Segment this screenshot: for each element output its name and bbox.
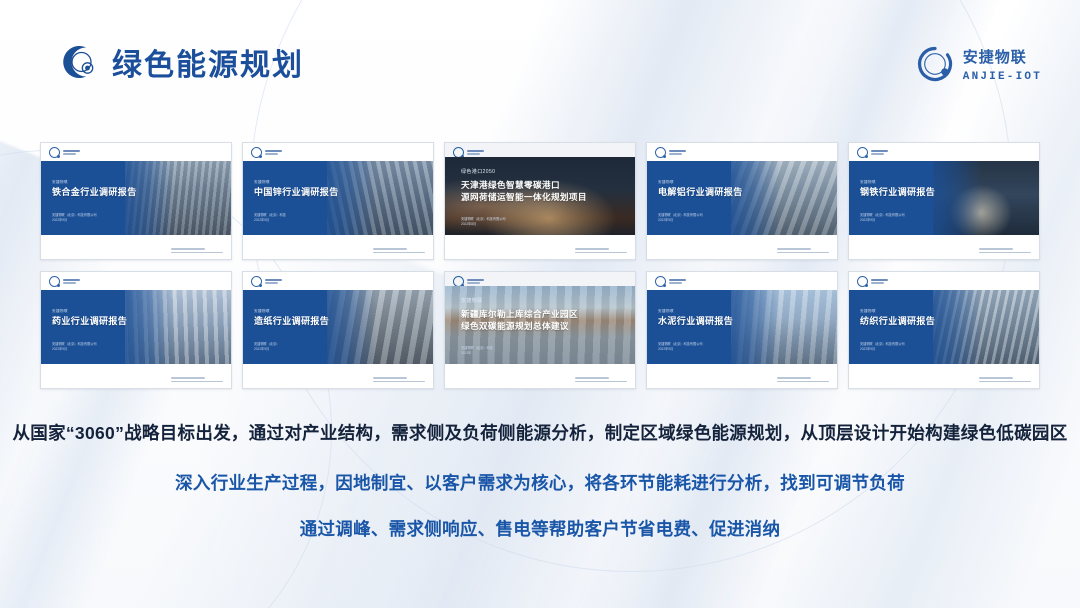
- card-slide-header: [445, 143, 635, 158]
- card-cover-band: 绿色港口2050天津港绿色智慧零碳港口源网荷储运智能一体化规划项目安捷物联（北京…: [445, 157, 635, 239]
- card-subtitle: 安捷物联（北京）科技有限公司2022年9月: [52, 213, 97, 223]
- card-footer-text: [979, 377, 1031, 384]
- card-title: 新疆库尔勒上库综合产业园区绿色双碳能源规划总体建议: [461, 308, 578, 333]
- card-slide-header: [243, 272, 433, 290]
- company-name-cn: 安捷物联: [963, 49, 1027, 66]
- card-cover-band: 安捷物联电解铝行业调研报告安捷物联（北京）科技有限公司2022年9月: [647, 161, 837, 235]
- card-subtitle: 安捷物联（北京）科技2022年9月: [254, 213, 286, 223]
- card-subtitle-line-2: 2022年: [461, 351, 493, 356]
- card-subtitle-line-2: 2022年9月: [52, 218, 97, 223]
- copy-line-2: 深入行业生产过程，因地制宜、以客户需求为核心，将各环节能耗进行分析，找到可调节负…: [0, 470, 1080, 495]
- card-footer-text: [171, 377, 223, 384]
- card-title: 纺织行业调研报告: [860, 317, 935, 327]
- card-title: 电解铝行业调研报告: [658, 188, 743, 198]
- card-footer-text: [575, 248, 627, 255]
- report-thumbnail-grid: 安捷物联铁合金行业调研报告安捷物联（北京）科技有限公司2022年9月安捷物联中国…: [40, 142, 1040, 389]
- card-slide-header: [849, 143, 1039, 161]
- card-logo-icon: [49, 276, 80, 287]
- report-card[interactable]: 安捷物联纺织行业调研报告安捷物联（北京）科技有限公司2022年9月: [848, 271, 1040, 389]
- card-footer: [41, 235, 231, 259]
- card-footer: [849, 364, 1039, 388]
- card-subtitle-line-2: 2022年9月: [254, 347, 280, 352]
- card-subtitle-line-2: 2022年9月: [52, 347, 97, 352]
- card-title: 造纸行业调研报告: [254, 317, 329, 327]
- card-title-group: 安捷物联药业行业调研报告: [52, 310, 127, 326]
- card-subtitle: 安捷物联（北京）科技有限公司2022年9月: [860, 213, 905, 223]
- card-title-group: 安捷物联纺织行业调研报告: [860, 310, 935, 326]
- card-title: 药业行业调研报告: [52, 317, 127, 327]
- card-slide-header: [243, 143, 433, 161]
- card-subtitle-line-2: 2022年9月: [254, 218, 286, 223]
- card-cover-band: 安捷物联纺织行业调研报告安捷物联（北京）科技有限公司2022年9月: [849, 290, 1039, 364]
- card-title: 天津港绿色智慧零碳港口源网荷储运智能一体化规划项目: [461, 179, 587, 204]
- card-title-group: 绿色港口2050天津港绿色智慧零碳港口源网荷储运智能一体化规划项目: [461, 170, 587, 204]
- card-title-group: 安捷物联造纸行业调研报告: [254, 310, 329, 326]
- card-footer: [445, 364, 635, 388]
- card-cover-band: 安捷物联中国锌行业调研报告安捷物联（北京）科技2022年9月: [243, 161, 433, 235]
- card-subtitle-line-2: 2022年9月: [860, 347, 905, 352]
- card-logo-icon: [655, 276, 686, 287]
- card-footer-text: [373, 377, 425, 384]
- card-logo-icon: [857, 276, 888, 287]
- card-slide-header: [445, 272, 635, 287]
- card-footer-text: [777, 377, 829, 384]
- card-slide-header: [41, 143, 231, 161]
- card-kicker: 安捷物联: [461, 299, 578, 304]
- card-cover-band: 安捷物联新疆库尔勒上库综合产业园区绿色双碳能源规划总体建议安捷物联（北京）科技2…: [445, 286, 635, 368]
- card-subtitle: 安捷物联（北京）科技有限公司2022年9月: [658, 342, 703, 352]
- card-footer-text: [777, 248, 829, 255]
- company-name-en: ANJIE-IOT: [963, 71, 1042, 83]
- copy-line-1: 从国家“3060”战略目标出发，通过对产业结构，需求侧及负荷侧能源分析，制定区域…: [0, 420, 1080, 445]
- card-logo-icon: [49, 147, 80, 158]
- card-subtitle: 安捷物联（北京）科技有限公司2022年9月: [52, 342, 97, 352]
- card-title-group: 安捷物联钢铁行业调研报告: [860, 181, 935, 197]
- card-subtitle-line-2: 2022年9月: [658, 218, 703, 223]
- card-cover-band: 安捷物联水泥行业调研报告安捷物联（北京）科技有限公司2022年9月: [647, 290, 837, 364]
- card-title: 水泥行业调研报告: [658, 317, 733, 327]
- report-card[interactable]: 绿色港口2050天津港绿色智慧零碳港口源网荷储运智能一体化规划项目安捷物联（北京…: [444, 142, 636, 260]
- card-title-group: 安捷物联新疆库尔勒上库综合产业园区绿色双碳能源规划总体建议: [461, 299, 578, 333]
- report-card[interactable]: 安捷物联钢铁行业调研报告安捷物联（北京）科技有限公司2022年9月: [848, 142, 1040, 260]
- report-card[interactable]: 安捷物联中国锌行业调研报告安捷物联（北京）科技2022年9月: [242, 142, 434, 260]
- report-card[interactable]: 安捷物联造纸行业调研报告安捷物联（北京）2022年9月: [242, 271, 434, 389]
- card-kicker: 安捷物联: [254, 310, 329, 314]
- card-footer: [849, 235, 1039, 259]
- company-logo: 安捷物联 ANJIE-IOT: [916, 45, 1042, 88]
- card-slide-header: [41, 272, 231, 290]
- card-footer: [647, 364, 837, 388]
- card-kicker: 绿色港口2050: [461, 170, 587, 175]
- card-cover-band: 安捷物联铁合金行业调研报告安捷物联（北京）科技有限公司2022年9月: [41, 161, 231, 235]
- card-kicker: 安捷物联: [52, 181, 137, 185]
- report-card[interactable]: 安捷物联电解铝行业调研报告安捷物联（北京）科技有限公司2022年9月: [646, 142, 838, 260]
- card-title-group: 安捷物联电解铝行业调研报告: [658, 181, 743, 197]
- card-subtitle: 安捷物联（北京）科技有限公司2022年9月: [860, 342, 905, 352]
- report-card[interactable]: 安捷物联水泥行业调研报告安捷物联（北京）科技有限公司2022年9月: [646, 271, 838, 389]
- card-title-group: 安捷物联中国锌行业调研报告: [254, 181, 339, 197]
- title-group: 绿色能源规划: [56, 40, 304, 84]
- card-logo-icon: [251, 276, 282, 287]
- card-logo-icon: [857, 147, 888, 158]
- card-kicker: 安捷物联: [254, 181, 339, 185]
- card-kicker: 安捷物联: [658, 181, 743, 185]
- circles-logo-icon: [56, 41, 98, 83]
- card-subtitle-line-2: 2022年9月: [658, 347, 703, 352]
- card-footer: [243, 235, 433, 259]
- card-subtitle-line-2: 2022年9月: [860, 218, 905, 223]
- report-card[interactable]: 安捷物联铁合金行业调研报告安捷物联（北京）科技有限公司2022年9月: [40, 142, 232, 260]
- card-footer-text: [373, 248, 425, 255]
- card-subtitle: 安捷物联（北京）科技有限公司2022年9月: [658, 213, 703, 223]
- ring-dot-logo-icon: [916, 45, 954, 88]
- card-title: 铁合金行业调研报告: [52, 188, 137, 198]
- card-title: 中国锌行业调研报告: [254, 188, 339, 198]
- card-title: 钢铁行业调研报告: [860, 188, 935, 198]
- card-subtitle: 安捷物联（北京）科技2022年: [461, 346, 493, 356]
- card-subtitle: 安捷物联（北京）科技有限公司2022年8月: [461, 217, 506, 227]
- card-cover-band: 安捷物联钢铁行业调研报告安捷物联（北京）科技有限公司2022年9月: [849, 161, 1039, 235]
- card-kicker: 安捷物联: [658, 310, 733, 314]
- card-subtitle-line-2: 2022年8月: [461, 222, 506, 227]
- card-slide-header: [849, 272, 1039, 290]
- card-footer: [647, 235, 837, 259]
- card-kicker: 安捷物联: [52, 310, 127, 314]
- card-kicker: 安捷物联: [860, 181, 935, 185]
- card-slide-header: [647, 272, 837, 290]
- card-cover-band: 安捷物联药业行业调研报告安捷物联（北京）科技有限公司2022年9月: [41, 290, 231, 364]
- card-footer-text: [575, 377, 627, 384]
- card-subtitle: 安捷物联（北京）2022年9月: [254, 342, 280, 352]
- report-card[interactable]: 安捷物联新疆库尔勒上库综合产业园区绿色双碳能源规划总体建议安捷物联（北京）科技2…: [444, 271, 636, 389]
- card-title-group: 安捷物联水泥行业调研报告: [658, 310, 733, 326]
- card-kicker: 安捷物联: [860, 310, 935, 314]
- slide-canvas: 绿色能源规划 安捷物联 ANJIE-IOT 安捷物联铁合金行业调研报告安捷物联（…: [0, 0, 1080, 608]
- card-title-group: 安捷物联铁合金行业调研报告: [52, 181, 137, 197]
- copy-line-3: 通过调峰、需求侧响应、售电等帮助客户节省电费、促进消纳: [0, 516, 1080, 541]
- card-footer: [41, 364, 231, 388]
- card-cover-band: 安捷物联造纸行业调研报告安捷物联（北京）2022年9月: [243, 290, 433, 364]
- card-slide-header: [647, 143, 837, 161]
- card-footer: [243, 364, 433, 388]
- card-logo-icon: [655, 147, 686, 158]
- card-footer: [445, 235, 635, 259]
- summary-copy: 从国家“3060”战略目标出发，通过对产业结构，需求侧及负荷侧能源分析，制定区域…: [0, 420, 1080, 541]
- slide-header: 绿色能源规划 安捷物联 ANJIE-IOT: [0, 0, 1080, 118]
- card-logo-icon: [251, 147, 282, 158]
- page-title: 绿色能源规划: [112, 40, 304, 84]
- company-text: 安捷物联 ANJIE-IOT: [963, 50, 1042, 84]
- card-footer-text: [979, 248, 1031, 255]
- report-card[interactable]: 安捷物联药业行业调研报告安捷物联（北京）科技有限公司2022年9月: [40, 271, 232, 389]
- card-footer-text: [171, 248, 223, 255]
